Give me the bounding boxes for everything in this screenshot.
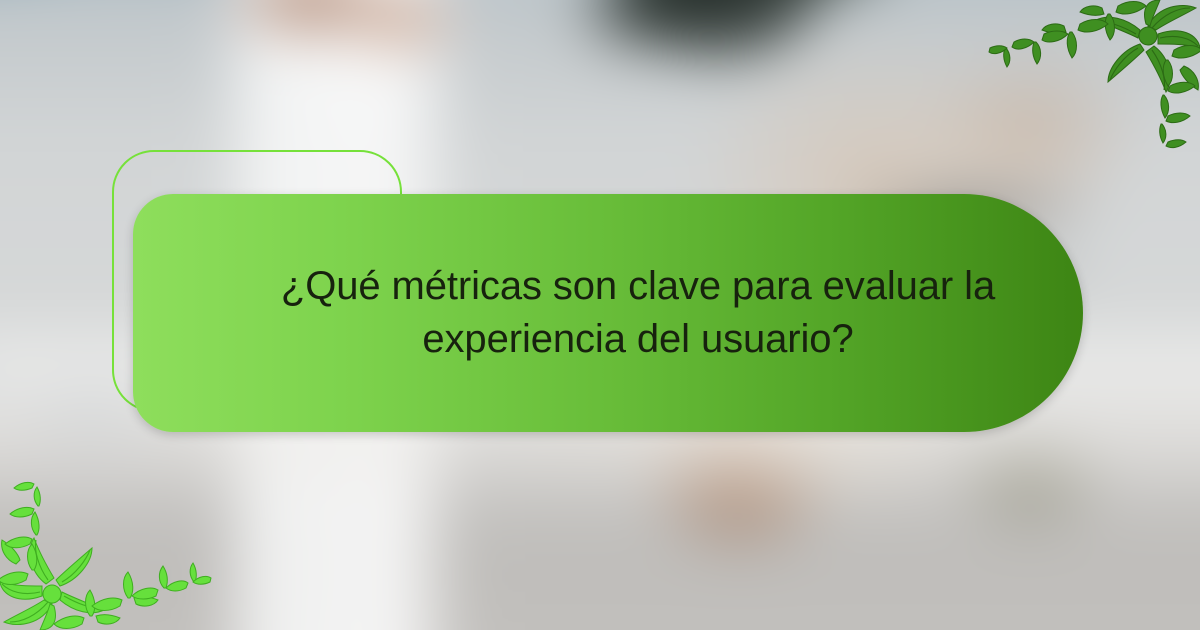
page-root: ¿Qué métricas son clave para evaluar la … <box>0 0 1200 630</box>
question-text: ¿Qué métricas son clave para evaluar la … <box>193 260 1023 366</box>
question-card[interactable]: ¿Qué métricas son clave para evaluar la … <box>133 194 1083 432</box>
